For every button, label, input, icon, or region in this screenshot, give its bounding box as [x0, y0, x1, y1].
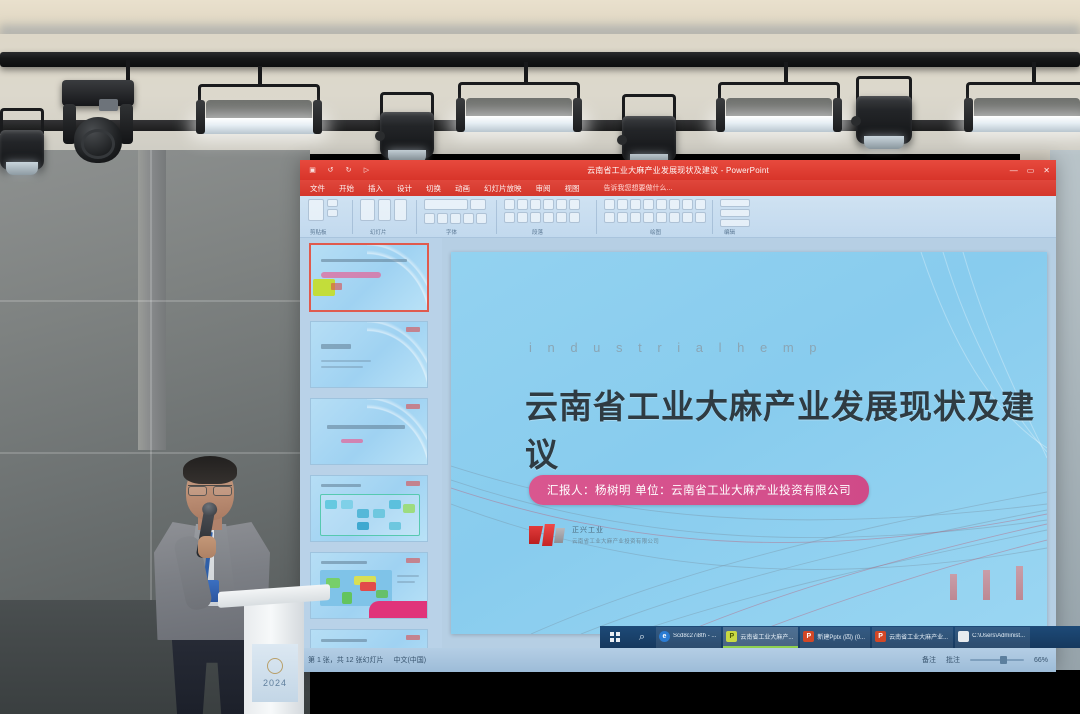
ribbon-group-label: 剪贴板 — [310, 228, 327, 236]
shadow-button[interactable] — [463, 213, 474, 224]
logo-stroke — [529, 526, 543, 544]
thumbnail-logo — [406, 635, 420, 640]
decor-bar — [983, 570, 990, 600]
ribbon-group-label: 编辑 — [724, 228, 735, 236]
browser-icon: e — [659, 631, 670, 642]
ribbon-separator — [416, 200, 417, 234]
led-bar-light — [716, 98, 842, 132]
tab-file[interactable]: 文件 — [310, 183, 325, 194]
flow-node — [389, 522, 401, 530]
light-arm — [120, 104, 132, 144]
light-base — [62, 80, 134, 106]
indent-increase-button[interactable] — [543, 199, 554, 210]
decor-bar — [1016, 566, 1023, 600]
zoom-level[interactable]: 66% — [1034, 657, 1048, 664]
light-tube — [716, 116, 842, 132]
underline-button[interactable] — [450, 213, 461, 224]
status-right[interactable]: 备注 批注 66% — [922, 655, 1048, 665]
document-title: 云南省工业大麻产业发展现状及建议 - PowerPoint — [300, 165, 1056, 176]
light-tube — [196, 118, 322, 134]
shape-triangle-button[interactable] — [656, 199, 667, 210]
ribbon-body[interactable]: 剪贴板 幻灯片 — [300, 196, 1056, 238]
italic-button[interactable] — [437, 213, 448, 224]
font-family-select[interactable] — [424, 199, 468, 210]
light-hood — [726, 98, 832, 117]
led-bar-light — [456, 98, 582, 132]
arrange-button[interactable] — [604, 212, 615, 223]
copy-button[interactable] — [327, 209, 338, 217]
thumbnail-body-line — [321, 360, 371, 362]
ribbon-separator — [496, 200, 497, 234]
taskbar-item-label: 新建Pptx (四) (0... — [817, 632, 865, 641]
legend-line — [397, 575, 419, 577]
bold-button[interactable] — [424, 213, 435, 224]
light-end-cap — [313, 100, 322, 134]
ribbon-separator — [712, 200, 713, 234]
indent-decrease-button[interactable] — [530, 199, 541, 210]
tab-view[interactable]: 视图 — [565, 183, 580, 194]
ribbon-tab-bar[interactable]: 文件 开始 插入 设计 切换 动画 幻灯片放映 审阅 视图 告诉我您想要做什么.… — [300, 180, 1056, 196]
windows-taskbar[interactable]: ⌕ e Scd8c27i8th - ... P 云南省工业大麻产... P 新建… — [600, 626, 1080, 648]
shape-arrow-button[interactable] — [630, 199, 641, 210]
light-lens — [864, 136, 904, 149]
tab-insert[interactable]: 插入 — [368, 183, 383, 194]
light-lens — [6, 162, 38, 175]
moving-head-light — [62, 80, 134, 168]
light-hanger — [1032, 62, 1036, 84]
tab-home[interactable]: 开始 — [339, 183, 354, 194]
shape-more-button[interactable] — [695, 199, 706, 210]
light-hanger — [524, 62, 528, 84]
cut-button[interactable] — [327, 199, 338, 207]
taskbar-item-label: C:\Users\Administ... — [972, 633, 1025, 639]
light-end-cap — [573, 98, 582, 132]
ribbon-group-clipboard[interactable] — [308, 199, 338, 221]
tab-transitions[interactable]: 切换 — [426, 183, 441, 194]
tab-animations[interactable]: 动画 — [455, 183, 470, 194]
ribbon-group-editing[interactable] — [720, 199, 750, 227]
taskbar-item-powerpoint-2[interactable]: P 新建Pptx (四) (0... — [800, 627, 870, 648]
podium-year-label: 2024 — [263, 678, 287, 688]
led-bar-light — [196, 100, 322, 134]
slide-title: 云南省工业大麻产业发展现状及建议 — [525, 380, 1047, 476]
light-end-cap — [196, 100, 205, 134]
justify-button[interactable] — [543, 212, 554, 223]
logo-text: 正兴工业 云南省工业大麻产业投资有限公司 — [572, 525, 659, 545]
window-controls[interactable]: ― ▭ ✕ — [1010, 166, 1050, 175]
tell-me-search[interactable]: 告诉我您想要做什么... — [604, 183, 673, 193]
shape-effects-button[interactable] — [656, 212, 667, 223]
presenter-info-pill: 汇报人：杨树明 单位：云南省工业大麻产业投资有限公司 — [529, 475, 869, 505]
light-hood — [206, 100, 312, 119]
flow-node — [357, 522, 369, 530]
light-end-cap — [833, 98, 842, 132]
ribbon-group-drawing[interactable] — [604, 199, 706, 223]
slide-subtitle: i n d u s t r i a l h e m p — [529, 340, 823, 355]
map-region — [376, 590, 388, 598]
font-size-select[interactable] — [470, 199, 486, 210]
powerpoint-icon: P — [803, 631, 814, 642]
minimize-icon[interactable]: ― — [1010, 166, 1018, 175]
align-right-button[interactable] — [530, 212, 541, 223]
conference-room-scene: ▣ ↺ ↻ ▷ 云南省工业大麻产业发展现状及建议 - PowerPoint ― … — [0, 0, 1080, 714]
flow-node — [357, 509, 369, 518]
taskbar-item-label: 云南省工业大麻产... — [740, 632, 793, 641]
projection-screen: ▣ ↺ ↻ ▷ 云南省工业大麻产业发展现状及建议 - PowerPoint ― … — [300, 160, 1056, 672]
logo-company-name: 云南省工业大麻产业投资有限公司 — [572, 537, 659, 545]
light-tube — [456, 116, 582, 132]
ribbon-group-label: 绘图 — [650, 228, 661, 236]
wall-seam — [0, 300, 310, 302]
powerpoint-icon: P — [875, 631, 886, 642]
logo-brand-name: 正兴工业 — [572, 525, 659, 535]
eyeglasses — [188, 485, 232, 494]
line-spacing-button[interactable] — [556, 199, 567, 210]
fresnel-light — [380, 112, 434, 158]
shape-align-button[interactable] — [695, 212, 706, 223]
start-button[interactable] — [602, 626, 628, 648]
logo-stroke — [542, 524, 555, 546]
comments-button[interactable]: 批注 — [946, 655, 960, 665]
windows-logo-icon — [610, 632, 620, 642]
zoom-slider[interactable] — [970, 659, 1024, 661]
light-hood — [466, 98, 572, 117]
shape-group-button[interactable] — [669, 212, 680, 223]
numbering-button[interactable] — [517, 199, 528, 210]
light-tube — [964, 116, 1080, 132]
close-icon[interactable]: ✕ — [1043, 166, 1050, 175]
zoom-slider-knob[interactable] — [1000, 656, 1007, 664]
light-end-cap — [716, 98, 725, 132]
thumbnail-body-line — [321, 366, 363, 368]
align-center-button[interactable] — [517, 212, 528, 223]
taskbar-item-label: 云南省工业大麻产业... — [889, 632, 948, 641]
logo-stroke — [554, 528, 565, 543]
quick-styles-button[interactable] — [617, 212, 628, 223]
taskbar-item-label: Scd8c27i8th - ... — [673, 633, 716, 639]
tab-review[interactable]: 审阅 — [536, 183, 551, 194]
light-end-cap — [964, 98, 973, 132]
light-hanger — [258, 66, 262, 86]
find-button[interactable] — [720, 199, 750, 207]
tab-design[interactable]: 设计 — [397, 183, 412, 194]
shape-callout-button[interactable] — [682, 199, 693, 210]
podium-front-plate: 2024 — [252, 644, 298, 702]
shape-line-button[interactable] — [643, 199, 654, 210]
shape-rect-button[interactable] — [604, 199, 615, 210]
notes-button[interactable]: 备注 — [922, 655, 936, 665]
fresnel-light — [622, 116, 676, 162]
shape-fill-button[interactable] — [630, 212, 641, 223]
fresnel-light — [856, 96, 912, 144]
search-button[interactable]: ⌕ — [630, 626, 654, 648]
ribbon-group-label: 字体 — [446, 228, 457, 236]
smartart-button[interactable] — [569, 212, 580, 223]
new-slide-button[interactable] — [360, 199, 375, 221]
ribbon-group-label: 段落 — [532, 228, 543, 236]
thumbnail-logo — [406, 327, 420, 332]
slide-editing-area[interactable]: i n d u s t r i a l h e m p 云南省工业大麻产业发展现… — [442, 238, 1056, 648]
light-hanger — [784, 62, 788, 84]
event-emblem-icon — [267, 658, 283, 674]
logo-mark-icon — [529, 524, 565, 546]
maximize-icon[interactable]: ▭ — [1027, 166, 1035, 175]
map-region-highlight — [360, 582, 376, 591]
language-indicator[interactable]: 中文(中国) — [393, 655, 426, 665]
text-direction-button[interactable] — [569, 199, 580, 210]
bullets-button[interactable] — [504, 199, 515, 210]
thumbnail-title-line — [321, 259, 407, 262]
speaker-hand — [198, 536, 216, 558]
shape-star-button[interactable] — [669, 199, 680, 210]
light-control-panel — [99, 99, 118, 110]
paste-button[interactable] — [308, 199, 324, 221]
thumbnail-accent-shape — [369, 601, 427, 619]
thumbnail-title-line — [321, 344, 351, 349]
powerpoint-title-bar: ▣ ↺ ↻ ▷ 云南省工业大麻产业发展现状及建议 - PowerPoint ― … — [300, 160, 1056, 180]
shape-ellipse-button[interactable] — [617, 199, 628, 210]
led-bar-light — [964, 98, 1080, 132]
flow-node — [403, 504, 415, 513]
flow-node — [389, 500, 401, 509]
ribbon-group-slides[interactable] — [360, 199, 407, 221]
lighting-truss-front — [0, 52, 1080, 67]
shape-rotate-button[interactable] — [682, 212, 693, 223]
tab-slideshow[interactable]: 幻灯片放映 — [484, 183, 522, 194]
select-button[interactable] — [720, 219, 750, 227]
font-color-button[interactable] — [476, 213, 487, 224]
light-end-cap — [456, 98, 465, 132]
decor-bar — [950, 574, 957, 600]
speaker-hair — [183, 456, 237, 484]
thumbnail-slide-1[interactable] — [310, 244, 428, 311]
par-light — [0, 130, 44, 170]
thumbnail-logo — [406, 404, 420, 409]
replace-button[interactable] — [720, 209, 750, 217]
flow-node — [373, 509, 385, 518]
legend-line — [397, 581, 415, 583]
thumbnail-logo — [406, 558, 420, 563]
layout-button[interactable] — [378, 199, 391, 221]
slide-bar-decoration — [950, 566, 1023, 600]
ribbon-group-label: 幻灯片 — [370, 228, 387, 236]
thumbnail-pill — [321, 272, 381, 278]
thumbnail-logo — [406, 481, 420, 486]
align-left-button[interactable] — [504, 212, 515, 223]
thumbnail-slide-2[interactable] — [310, 321, 428, 388]
light-hood — [974, 98, 1080, 117]
taskbar-item-explorer[interactable]: C:\Users\Administ... — [955, 627, 1030, 648]
company-logo: 正兴工业 云南省工业大麻产业投资有限公司 — [529, 524, 659, 546]
podium: 2024 — [218, 588, 330, 714]
ribbon-separator — [352, 200, 353, 234]
taskbar-item-powerpoint-active[interactable]: P 云南省工业大麻产... — [723, 627, 798, 648]
ribbon-group-paragraph[interactable] — [504, 199, 580, 223]
shape-outline-button[interactable] — [643, 212, 654, 223]
columns-button[interactable] — [556, 212, 567, 223]
powerpoint-icon: P — [726, 631, 737, 642]
folder-icon — [958, 631, 969, 642]
map-region — [342, 592, 352, 604]
ribbon-group-font[interactable] — [424, 199, 487, 224]
thumbnail-logo — [331, 283, 342, 290]
thumbnail-title-line — [327, 425, 405, 429]
taskbar-item-powerpoint-3[interactable]: P 云南省工业大麻产业... — [872, 627, 953, 648]
thumbnail-pill — [341, 439, 363, 443]
search-icon: ⌕ — [639, 631, 645, 644]
taskbar-item-browser[interactable]: e Scd8c27i8th - ... — [656, 627, 721, 648]
flow-node — [341, 500, 353, 509]
powerpoint-status-bar[interactable]: 第 1 张，共 12 张幻灯片 中文(中国) 备注 批注 66% — [300, 648, 1056, 672]
current-slide[interactable]: i n d u s t r i a l h e m p 云南省工业大麻产业发展现… — [451, 252, 1047, 634]
reset-button[interactable] — [394, 199, 407, 221]
ribbon-separator — [596, 200, 597, 234]
